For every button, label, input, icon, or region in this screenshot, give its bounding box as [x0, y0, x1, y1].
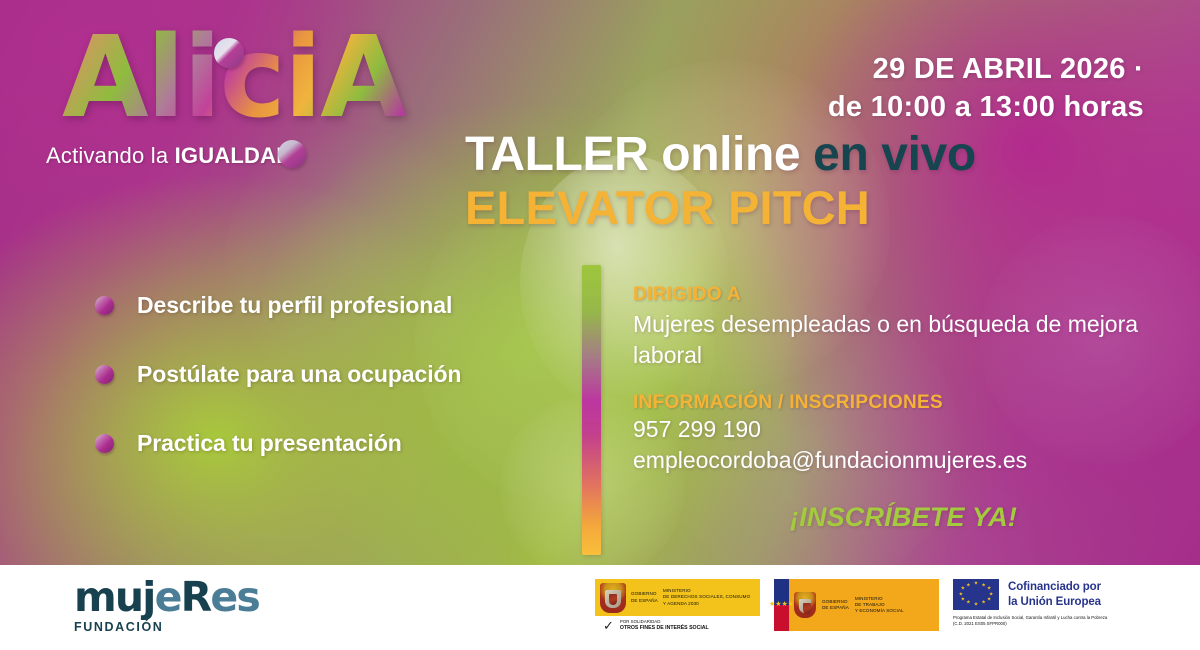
event-date-block: 29 DE ABRIL 2026 · de 10:00 a 13:00 hora…	[828, 50, 1144, 127]
ministerio-label: MINISTERIO DE DERECHOS SOCIALES, CONSUMO…	[663, 588, 750, 607]
gobierno-line1: GOBIERNO	[631, 591, 658, 597]
audience-body: Mujeres desempleadas o en búsqueda de me…	[633, 309, 1163, 370]
ministerio-line2: DE DERECHOS SOCIALES, CONSUMO	[663, 594, 750, 600]
title-word-taller: TALLER	[465, 128, 648, 181]
gobierno-line2: DE ESPAÑA	[631, 598, 658, 604]
list-item-label: Describe tu perfil profesional	[137, 292, 452, 319]
alicia-logo-tagline: Activando la IGUALDAD	[46, 143, 292, 169]
list-item: Practica tu presentación	[95, 430, 535, 457]
fm-word-a: muj	[74, 573, 155, 621]
eu-spain-flag-strip-icon: ★★★★	[774, 579, 789, 631]
gobierno-trabajo-bar: GOBIERNO DE ESPAÑA MINISTERIO DE TRABAJO…	[789, 579, 939, 631]
list-item-label: Practica tu presentación	[137, 430, 402, 457]
fundacion-mujeres-wordmark: mujeRes	[74, 577, 259, 618]
info-column: DIRIGIDO A Mujeres desempleadas o en bús…	[633, 284, 1163, 476]
title-word-envivo: en vivo	[813, 128, 976, 181]
contact-heading: INFORMACIÓN / INSCRIPCIONES	[633, 392, 1163, 414]
gobierno-derechos-sociales-bar: GOBIERNO DE ESPAÑA MINISTERIO DE DERECHO…	[595, 579, 760, 616]
solidaridad-block: ✓ POR SOLIDARIDAD OTROS FINES DE INTERÉS…	[595, 616, 760, 632]
fm-word-c: R	[181, 573, 211, 621]
poster: AliciA Activando la IGUALDAD 29 DE ABRIL…	[0, 0, 1200, 650]
list-item-label: Postúlate para una ocupación	[137, 361, 461, 388]
footer: mujeRes FUNDACIÓN GOBIERNO DE ESPAÑA MIN…	[0, 565, 1200, 650]
solidaridad-line2: OTROS FINES DE INTERÉS SOCIAL	[620, 625, 709, 632]
fundacion-mujeres-logo: mujeRes FUNDACIÓN	[74, 577, 259, 634]
institutional-logos: GOBIERNO DE ESPAÑA MINISTERIO DE DERECHO…	[595, 579, 1133, 632]
ministerio-line3: Y ECONOMÍA SOCIAL	[855, 608, 904, 614]
eu-stars-icon: ★★★★	[774, 579, 789, 631]
list-item: Postúlate para una ocupación	[95, 361, 535, 388]
tagline-strong: IGUALDAD	[175, 143, 293, 168]
bullet-dot-icon	[95, 365, 114, 384]
eu-label: Cofinanciado por la Unión Europea	[1008, 580, 1101, 608]
gobierno-label: GOBIERNO DE ESPAÑA	[631, 591, 658, 603]
event-time-line: de 10:00 a 13:00 horas	[828, 88, 1144, 126]
bullet-dot-icon	[95, 296, 114, 315]
audience-heading: DIRIGIDO A	[633, 284, 1163, 306]
ministerio-label: MINISTERIO DE TRABAJO Y ECONOMÍA SOCIAL	[855, 596, 904, 615]
european-union-logo: ★ ★ ★ ★ ★ ★ ★ ★ ★ ★ ★ ★ Cofinancia	[953, 579, 1133, 628]
gobierno-line2: DE ESPAÑA	[822, 605, 849, 611]
title-word-online: online	[661, 128, 800, 181]
contact-email[interactable]: empleocordoba@fundacionmujeres.es	[633, 445, 1163, 476]
event-date-line: 29 DE ABRIL 2026 ·	[828, 50, 1144, 88]
eu-fineprint-line2: (C.D. 2021 ES05 SFPR000)	[953, 621, 1133, 627]
solidaridad-label: POR SOLIDARIDAD OTROS FINES DE INTERÉS S…	[620, 619, 709, 632]
alicia-logo-dot-icon	[214, 38, 244, 68]
gradient-divider-bar	[582, 265, 601, 555]
eu-logo-main: ★ ★ ★ ★ ★ ★ ★ ★ ★ ★ ★ ★ Cofinancia	[953, 579, 1133, 610]
event-subtitle: ELEVATOR PITCH	[465, 180, 870, 235]
fundacion-mujeres-subtitle: FUNDACIÓN	[74, 620, 259, 634]
bullet-dot-icon	[95, 434, 114, 453]
spain-coat-of-arms-icon	[794, 592, 816, 618]
ministerio-line3: Y AGENDA 2030	[663, 601, 750, 607]
spain-coat-of-arms-icon	[600, 583, 626, 613]
event-title: TALLER online en vivo	[465, 127, 976, 182]
benefits-list: Describe tu perfil profesional Postúlate…	[95, 292, 535, 499]
spacer	[633, 370, 1163, 392]
eu-programme-fineprint: Programa Estatal de Inclusión Social, Ga…	[953, 615, 1133, 628]
list-item: Describe tu perfil profesional	[95, 292, 535, 319]
alicia-logo: AliciA	[44, 22, 404, 134]
eu-line2: la Unión Europea	[1008, 595, 1101, 609]
fm-word-b: e	[155, 573, 181, 621]
eu-line1: Cofinanciado por	[1008, 580, 1101, 594]
gobierno-derechos-sociales-logo: GOBIERNO DE ESPAÑA MINISTERIO DE DERECHO…	[595, 579, 760, 632]
contact-phone[interactable]: 957 299 190	[633, 414, 1163, 445]
fm-word-d: es	[210, 573, 259, 621]
gobierno-label: GOBIERNO DE ESPAÑA	[822, 599, 849, 611]
checkmark-icon: ✓	[603, 619, 614, 632]
eu-flag-icon: ★ ★ ★ ★ ★ ★ ★ ★ ★ ★ ★ ★	[953, 579, 999, 610]
tagline-prefix: Activando la	[46, 143, 175, 168]
cta-text[interactable]: ¡INSCRÍBETE YA!	[790, 502, 1017, 533]
gobierno-trabajo-logo: ★★★★ GOBIERNO DE ESPAÑA MINISTERIO DE TR…	[774, 579, 939, 631]
alicia-tagline-dot-icon	[278, 140, 306, 168]
